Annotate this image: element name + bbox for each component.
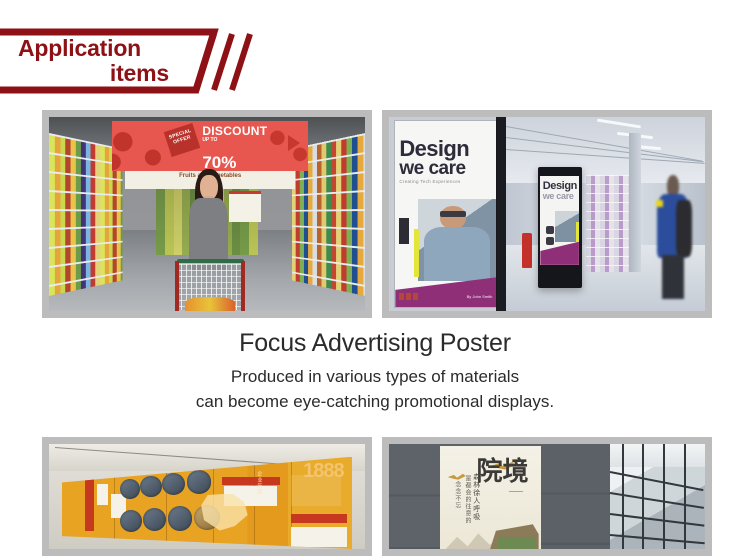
caption-block: Focus Advertising Poster Produced in var…: [0, 328, 750, 415]
lightbox-poster: Design we care Creating Tech Experiences…: [395, 121, 496, 307]
banner-stripe-2: [214, 34, 232, 90]
stone-wall-middle: [541, 444, 611, 549]
poster-vertical-text-3: 念念不忘: [452, 481, 462, 509]
promo-text-block: DISCOUNT UP TO70%: [202, 125, 267, 171]
facade-soffit: [610, 444, 705, 467]
corridor-pillar: [629, 133, 641, 273]
exhibition-year-label: 1888: [303, 460, 344, 483]
poster-logo-row: [399, 293, 418, 300]
kiosk-accent-bar: [576, 222, 579, 242]
circular-display: [120, 510, 142, 532]
pedestrian-backpack: [676, 200, 692, 257]
pedestrian-badge: [656, 200, 663, 207]
poster-accent-bar: [414, 229, 419, 277]
mall-digital-signage-photo: Design we care: [389, 117, 705, 311]
info-card: [97, 484, 109, 504]
chinese-courtyard-poster-frame: 院境 森林徐人呼吸 是都会的往意的 念念不忘: [382, 437, 712, 556]
kiosk-screen: Design we care: [540, 176, 579, 265]
corridor-ceiling: [506, 117, 705, 183]
kiosk-title-line2: we care: [543, 192, 577, 201]
red-accent-panel: [85, 473, 94, 530]
cart-frame-right: [241, 261, 244, 311]
circular-display: [162, 473, 185, 495]
caption-subtitle-line1: Produced in various types of materials: [0, 365, 750, 390]
ceiling-light: [598, 119, 642, 129]
promo-percent: 70%: [202, 154, 267, 171]
poster-title-line2: we care: [399, 160, 492, 178]
kiosk-title: Design we care: [543, 181, 577, 200]
cart-frame-left: [175, 261, 178, 311]
supermarket-aisle-photo: SPECIAL OFFER DISCOUNT UP TO70% Fruits a…: [49, 117, 365, 311]
kiosk-magenta-band: [540, 242, 579, 265]
poster-edge-column: [496, 117, 505, 311]
circular-display: [187, 470, 212, 493]
poster-credit: By John Smith: [467, 294, 493, 300]
poster-portrait: [418, 199, 497, 281]
supermarket-aisle-frame: SPECIAL OFFER DISCOUNT UP TO70% Fruits a…: [42, 110, 372, 318]
promo-arrow-icon: [288, 135, 300, 151]
digital-signage-kiosk: Design we care: [538, 167, 582, 287]
red-title-band: [291, 514, 346, 523]
portrait-head: [440, 206, 467, 229]
poster-title: 院境: [477, 456, 529, 489]
promo-badge: SPECIAL OFFER: [164, 123, 201, 157]
poster-divider: [509, 491, 523, 492]
walking-pedestrian: [653, 175, 693, 299]
circular-display: [143, 508, 166, 531]
info-card: [291, 527, 346, 547]
application-row-1: SPECIAL OFFER DISCOUNT UP TO70% Fruits a…: [42, 110, 712, 318]
portrait-shirt: [424, 227, 490, 281]
exhibition-vertical-label: 企业历程: [256, 471, 263, 495]
poster-title: Design we care Creating Tech Experiences: [399, 139, 492, 184]
section-banner-line2: items: [0, 61, 205, 86]
cart-groceries: [185, 297, 235, 311]
section-banner-line1: Application: [0, 36, 205, 61]
shopping-cart: [175, 253, 245, 311]
application-row-2: 1888 企业历程 院境 森林徐人呼吸 是都会的往意的 念念不忘: [42, 437, 712, 556]
courtyard-poster: 院境 森林徐人呼吸 是都会的往意的 念念不忘: [440, 446, 541, 549]
exhibition-wall-photo: 1888 企业历程: [49, 444, 365, 549]
caption-subtitle-line2: can become eye-catching promotional disp…: [0, 390, 750, 415]
caption-subtitle: Produced in various types of materials c…: [0, 365, 750, 414]
section-banner-text: Application items: [0, 28, 205, 94]
shelf-sign: [229, 191, 261, 222]
overhead-promo-banner: SPECIAL OFFER DISCOUNT UP TO70%: [112, 121, 308, 171]
poster-vertical-text-2: 是都会的往意的: [462, 475, 472, 524]
storefront-shelving: [586, 175, 630, 272]
glazed-facade: [610, 444, 705, 549]
poster-tagline: Creating Tech Experiences: [399, 180, 492, 184]
exhibition-wall-frame: 1888 企业历程: [42, 437, 372, 556]
caption-title: Focus Advertising Poster: [0, 328, 750, 359]
mountain-illustration: [446, 530, 499, 549]
circular-display: [168, 506, 193, 530]
red-title-band: [222, 477, 280, 485]
mall-digital-signage-frame: Design we care: [382, 110, 712, 318]
promo-upto: UP TO: [202, 137, 217, 145]
poster-dark-block: [399, 218, 409, 244]
promo-headline: DISCOUNT: [202, 125, 267, 137]
pavilion-greenery: [498, 537, 534, 549]
pedestrian-legs: [662, 255, 684, 300]
banner-stripe-3: [232, 34, 250, 90]
chinese-courtyard-poster-photo: 院境 森林徐人呼吸 是都会的往意的 念念不忘: [389, 444, 705, 549]
stone-wall-left: [389, 444, 440, 549]
mall-corridor: Design we care: [506, 117, 705, 311]
circular-display: [140, 476, 162, 497]
section-banner: Application items: [0, 28, 270, 94]
kiosk-logo-icons: [546, 226, 554, 245]
circular-display: [120, 479, 140, 499]
portrait-glasses-icon: [440, 211, 467, 217]
poster-title-line1: Design: [399, 139, 492, 160]
fire-extinguisher: [522, 233, 532, 268]
